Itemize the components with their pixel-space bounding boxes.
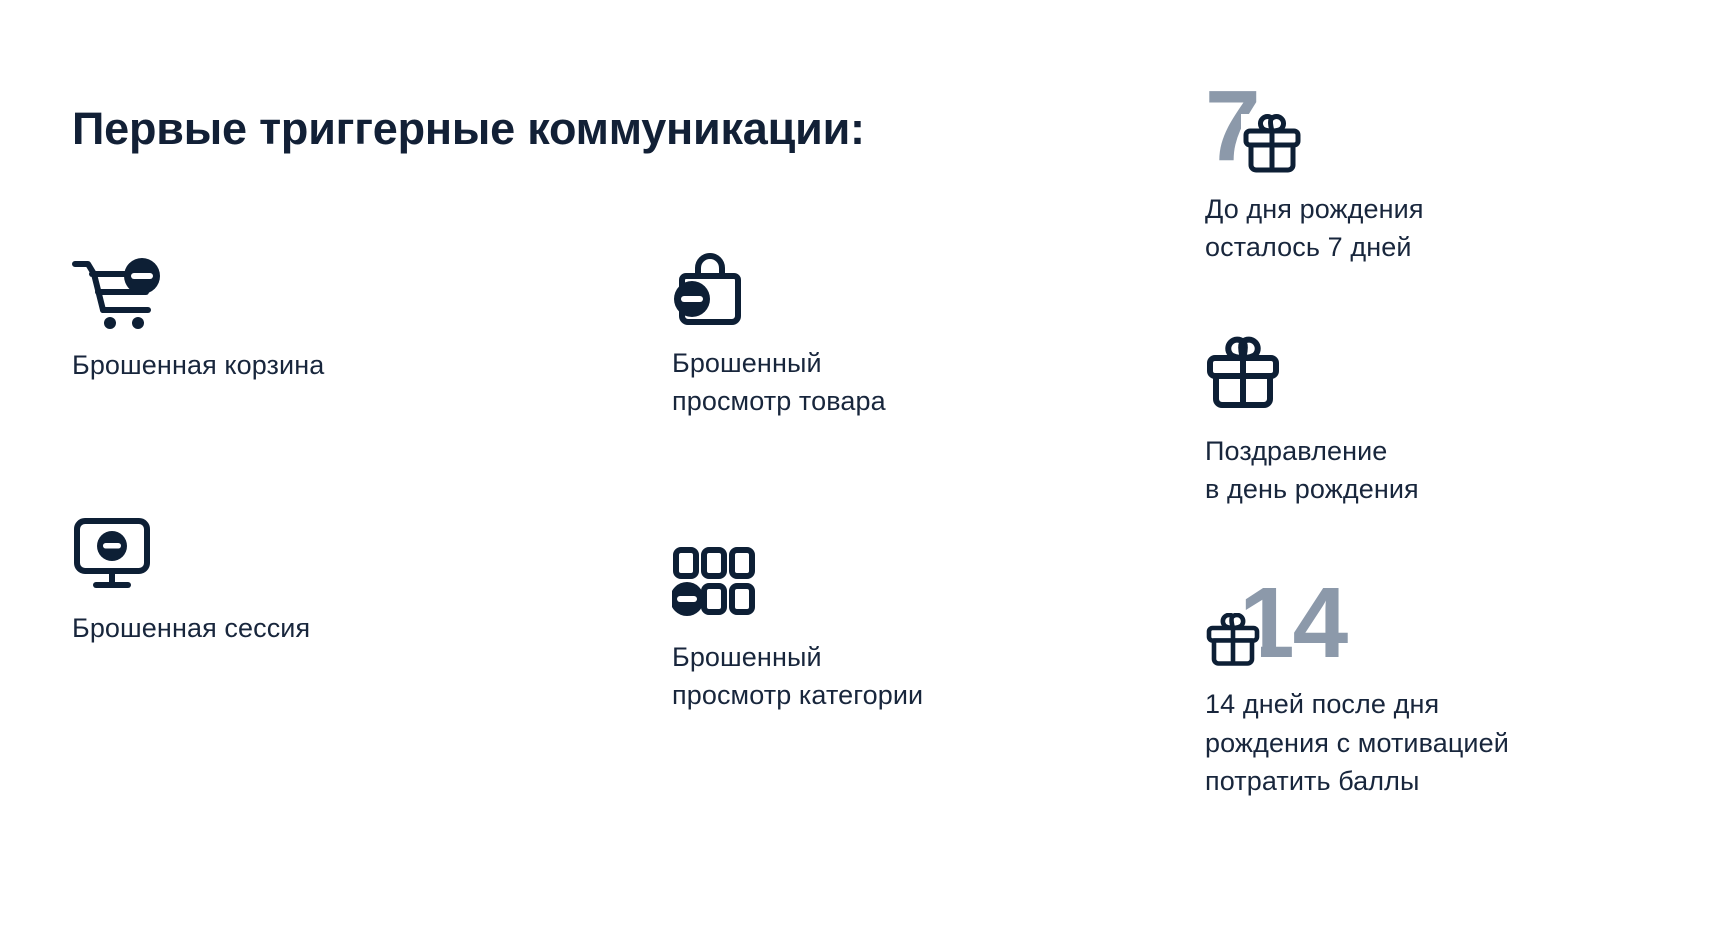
monitor-minus-icon xyxy=(72,515,542,593)
trigger-item-birthday-greeting[interactable]: Поздравление в день рождения xyxy=(1205,336,1675,509)
shopping-bag-minus-icon xyxy=(672,250,1142,328)
trigger-label: Брошенная корзина xyxy=(72,346,542,384)
trigger-item-abandoned-session[interactable]: Брошенная сессия xyxy=(72,515,542,647)
gift-icon xyxy=(1241,114,1303,174)
abandoned-behaviour-column-2: Брошенный просмотр товара Брошенный прос… xyxy=(672,250,1142,714)
abandoned-behaviour-column-1: Брошенная корзина Брошенная сессия xyxy=(72,252,542,648)
trigger-item-post-birthday-motivation[interactable]: 14 14 дней после дня рождения с мотиваци… xyxy=(1205,577,1675,800)
trigger-label: До дня рождения осталось 7 дней xyxy=(1205,190,1675,267)
category-grid-minus-icon xyxy=(672,544,1142,622)
trigger-label: Поздравление в день рождения xyxy=(1205,432,1675,509)
trigger-label: Брошенная сессия xyxy=(72,609,542,647)
numeral-7-gift-icon: 7 xyxy=(1205,82,1675,178)
slide-canvas: Первые триггерные коммуникации: xyxy=(0,0,1721,931)
trigger-item-abandoned-product-view[interactable]: Брошенный просмотр товара xyxy=(672,250,1142,421)
trigger-item-abandoned-cart[interactable]: Брошенная корзина xyxy=(72,252,542,384)
gift-icon xyxy=(1205,336,1675,420)
trigger-item-birthday-countdown[interactable]: 7 До дня рождения xyxy=(1205,82,1675,267)
birthday-triggers-column: 7 До дня рождения xyxy=(1205,82,1675,800)
gift-numeral-14-icon: 14 xyxy=(1205,577,1675,673)
trigger-label: Брошенный просмотр категории xyxy=(672,638,1142,715)
trigger-item-abandoned-category-view[interactable]: Брошенный просмотр категории xyxy=(672,544,1142,715)
cart-minus-icon xyxy=(72,252,542,330)
trigger-label: Брошенный просмотр товара xyxy=(672,344,1142,421)
page-title: Первые триггерные коммуникации: xyxy=(72,104,865,154)
trigger-label: 14 дней после дня рождения с мотивацией … xyxy=(1205,685,1675,800)
gift-icon xyxy=(1205,613,1261,667)
